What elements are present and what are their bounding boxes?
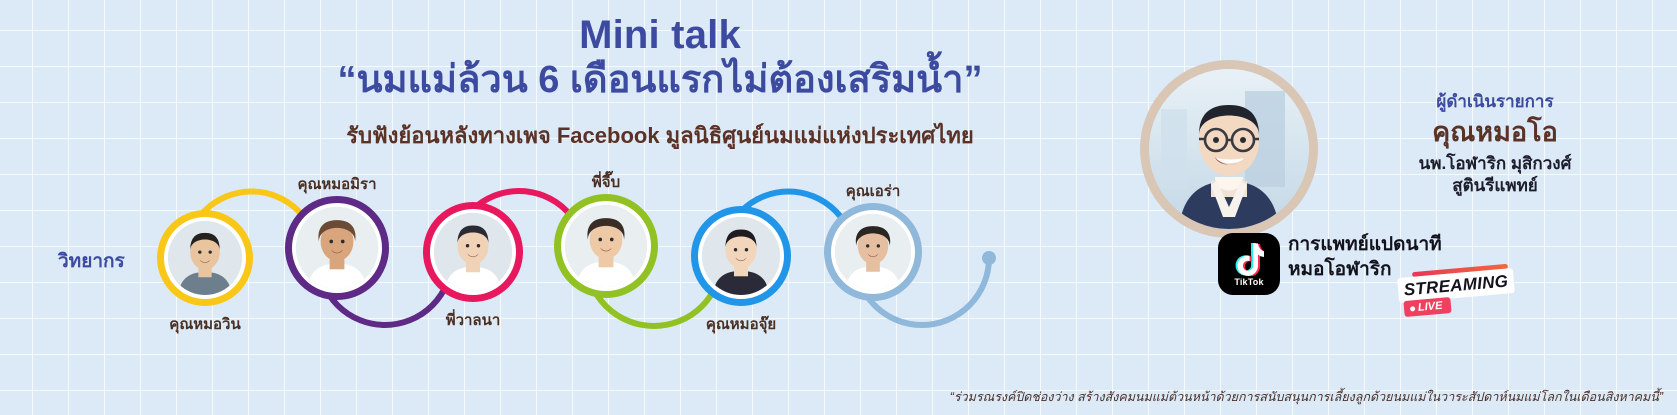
tiktok-label: TikTok [1234, 277, 1263, 287]
speaker-avatar[interactable] [824, 203, 922, 301]
speaker-avatar[interactable] [285, 196, 389, 300]
speaker-portrait-illustration [835, 214, 911, 290]
speaker-name-label: พี่วาลนา [393, 308, 553, 332]
host-photo-disc [1149, 69, 1309, 229]
tiktok-icon[interactable]: TikTok [1218, 233, 1280, 295]
host-role-label: ผู้ดำเนินรายการ [1330, 88, 1660, 115]
speaker-avatar[interactable] [554, 194, 658, 298]
speaker-photo [296, 207, 378, 289]
speaker-portrait-illustration [565, 205, 647, 287]
speaker-photo [168, 221, 242, 295]
talk-topic-quote: “นมแม่ล้วน 6 เดือนแรกไม่ต้องเสริมน้ำ” [250, 58, 1070, 104]
page-title: Mini talk [250, 14, 1070, 56]
live-badge: LIVE [1403, 297, 1452, 317]
footer-note: “ร่วมรณรงค์ปิดช่องว่าง สร้างสังคมนมแม่ต้… [950, 387, 1663, 407]
speaker-name-label: คุณหมอวิน [125, 312, 285, 336]
speaker-name-label: พี่จี๊บ [526, 170, 686, 194]
speaker-name-label: คุณหมอจุ๊ย [661, 312, 821, 336]
speaker-name-label: คุณเอร่า [793, 179, 953, 203]
connector-dot [982, 251, 996, 265]
poster-canvas: Mini talk “นมแม่ล้วน 6 เดือนแรกไม่ต้องเส… [0, 0, 1677, 415]
replay-subtitle: รับฟังย้อนหลังทางเพจ Facebook มูลนิธิศูน… [250, 118, 1070, 153]
host-portrait-illustration [1149, 69, 1309, 229]
speaker-portrait-illustration [296, 207, 378, 289]
live-dot-icon [1410, 306, 1415, 311]
speaker-avatar[interactable] [691, 206, 791, 306]
speaker-avatar[interactable] [423, 202, 523, 302]
speaker-photo [835, 214, 911, 290]
host-fullname: นพ.โอฬาริก มุสิกวงศ์ [1330, 153, 1660, 175]
speakers-row: คุณหมอวินคุณหมอมิราพี่วาลนาพี่จี๊บคุณหมอ… [0, 180, 1060, 345]
live-label: LIVE [1418, 300, 1443, 314]
headline-block: Mini talk “นมแม่ล้วน 6 เดือนแรกไม่ต้องเส… [250, 14, 1070, 153]
speaker-photo [565, 205, 647, 287]
host-info: ผู้ดำเนินรายการ คุณหมอโอ นพ.โอฬาริก มุสิ… [1330, 88, 1660, 197]
speaker-photo [702, 217, 780, 295]
speaker-name-label: คุณหมอมิรา [257, 172, 417, 196]
speaker-portrait-illustration [702, 217, 780, 295]
speaker-avatar[interactable] [157, 210, 253, 306]
streaming-badge: STREAMING LIVE [1398, 268, 1518, 316]
speaker-portrait-illustration [434, 213, 512, 291]
tiktok-channel-line1: การแพทย์แปดนาที [1288, 232, 1442, 257]
host-avatar [1140, 60, 1318, 238]
tiktok-note-glyph [1234, 242, 1264, 276]
host-specialty: สูตินรีแพทย์ [1330, 175, 1660, 197]
speaker-portrait-illustration [168, 221, 242, 295]
host-nickname: คุณหมอโอ [1330, 118, 1660, 148]
speaker-photo [434, 213, 512, 291]
